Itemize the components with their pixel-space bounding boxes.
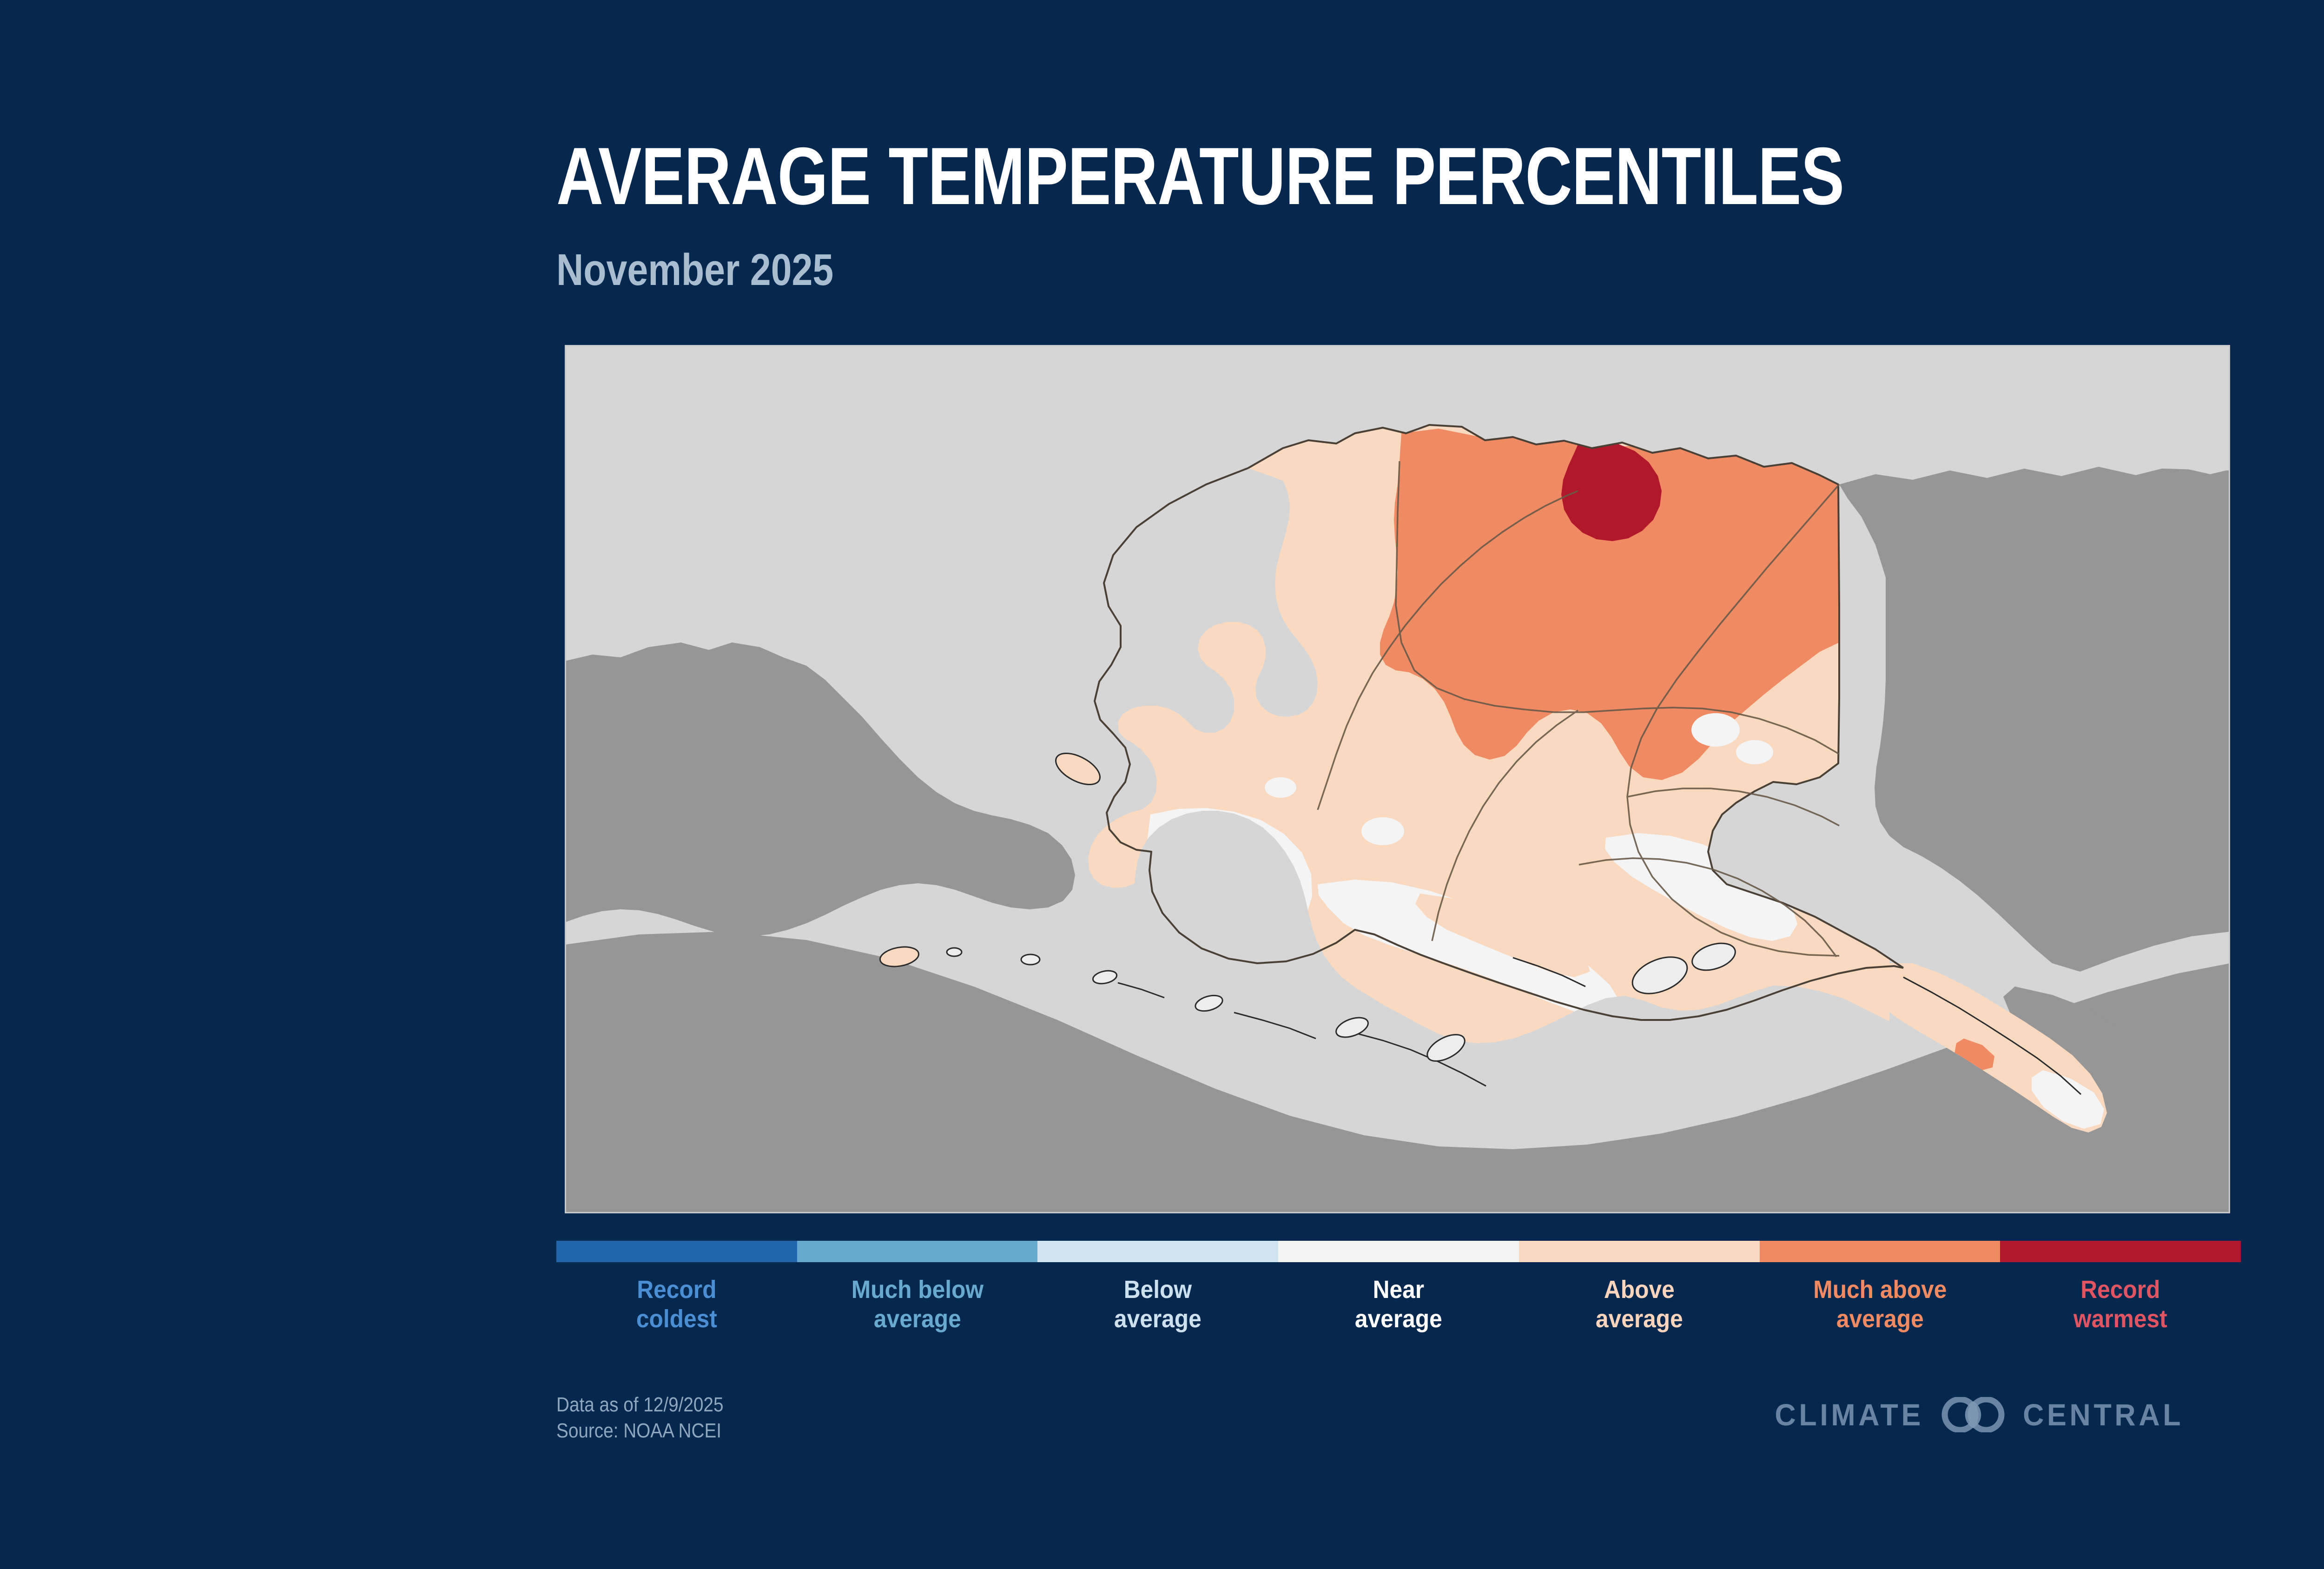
interlocking-circles-icon (1936, 1397, 2010, 1432)
legend-label-record-warmest: Record warmest (2010, 1275, 2231, 1333)
climate-central-logo[interactable]: CLIMATE CENTRAL (1771, 1397, 2188, 1432)
page-title: AVERAGE TEMPERATURE PERCENTILES (556, 136, 1844, 217)
legend-swatch-record-coldest[interactable] (556, 1241, 797, 1262)
legend-swatch-record-warmest[interactable] (2000, 1241, 2241, 1262)
logo-text-climate: CLIMATE (1775, 1397, 1924, 1432)
legend-swatch-much-below-average[interactable] (797, 1241, 1038, 1262)
legend-swatch-above-average[interactable] (1519, 1241, 1760, 1262)
legend-color-bar (556, 1241, 2241, 1262)
legend-label-much-above-average: Much above average (1769, 1275, 1990, 1333)
legend-label-record-coldest: Record coldest (566, 1275, 787, 1333)
page-subtitle: November 2025 (556, 248, 833, 292)
percentile-legend: Record coldest Much below average Below … (556, 1241, 2241, 1333)
legend-label-much-below-average: Much below average (806, 1275, 1028, 1333)
legend-swatch-near-average[interactable] (1278, 1241, 1519, 1262)
legend-label-near-average: Near average (1288, 1275, 1509, 1333)
infographic-canvas: AVERAGE TEMPERATURE PERCENTILES November… (0, 0, 2324, 1569)
map-svg (565, 345, 2230, 1213)
alaska-percentile-map[interactable] (565, 345, 2230, 1213)
legend-swatch-much-above-average[interactable] (1760, 1241, 2000, 1262)
legend-label-below-average: Below average (1047, 1275, 1268, 1333)
legend-swatch-below-average[interactable] (1037, 1241, 1278, 1262)
legend-label-above-average: Above average (1529, 1275, 1750, 1333)
legend-label-row: Record coldest Much below average Below … (556, 1275, 2241, 1333)
logo-text-central: CENTRAL (2023, 1397, 2184, 1432)
data-source-note: Data as of 12/9/2025 Source: NOAA NCEI (556, 1392, 724, 1444)
